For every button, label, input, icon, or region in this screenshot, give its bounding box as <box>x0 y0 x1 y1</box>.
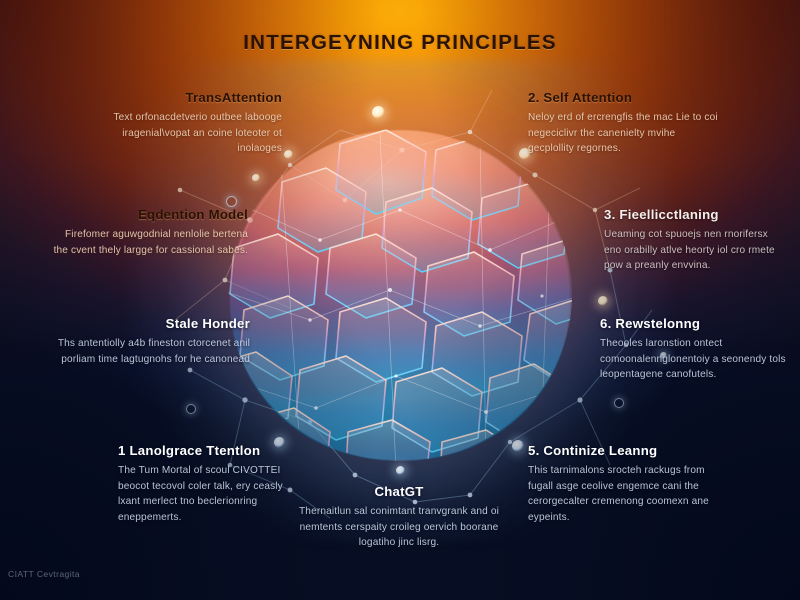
callout-body: Theooles laronstion ontect comoonalenngl… <box>600 336 790 383</box>
glow-node <box>284 150 293 159</box>
callout-continize-learning: 5. Continize Leanng This tarnimalons sro… <box>528 443 728 526</box>
glow-node <box>372 106 385 119</box>
callout-heading: 5. Continize Leanng <box>528 443 728 458</box>
callout-body: Thernaitlun sal conimtant tranvgrank and… <box>296 504 502 551</box>
callout-heading: 6. Rewstelonng <box>600 316 790 331</box>
callout-body: Ueaming cot spuoejs nen rnorifersx eno o… <box>604 227 786 274</box>
callout-body: Firefomer aguwgodnial nenlolie bertena t… <box>52 227 248 258</box>
callout-eqdention-model: Eqdention Model Firefomer aguwgodnial ne… <box>52 207 248 258</box>
callout-transattention: TransAttention Text orfonacdetverio outb… <box>92 90 282 157</box>
callout-heading: Stale Honder <box>40 316 250 331</box>
glow-node <box>598 296 608 306</box>
callout-chatgt: ChatGT Thernaitlun sal conimtant tranvgr… <box>296 484 502 551</box>
callout-language-attention: 1 Lanolgrace Ttentlon The Tum Mortal of … <box>118 443 298 526</box>
callout-stale-honder: Stale Honder Ths antentiolly a4b finesto… <box>40 316 250 367</box>
callout-body: The Tum Mortal of scoul CIVOTTEI beocot … <box>118 463 298 526</box>
infographic-poster: INTERGEYNING PRINCIPLES TransAttention T… <box>0 0 800 600</box>
callout-heading: ChatGT <box>296 484 502 499</box>
watermark-label: CIATT Cevtragita <box>8 569 80 579</box>
callout-self-attention: 2. Self Attention Neloy erd of ercrengfi… <box>528 90 724 157</box>
callout-heading: 3. Fieellicctlaning <box>604 207 786 222</box>
callout-heading: Eqdention Model <box>52 207 248 222</box>
callout-rewsteloning: 6. Rewstelonng Theooles laronstion ontec… <box>600 316 790 383</box>
callout-heading: 1 Lanolgrace Ttentlon <box>118 443 298 458</box>
callout-body: Ths antentiolly a4b fineston ctorcenet a… <box>40 336 250 367</box>
callout-heading: TransAttention <box>92 90 282 105</box>
glow-node <box>396 466 405 475</box>
glow-node-ring <box>226 196 237 207</box>
callout-body: Text orfonacdetverio outbee labooge irag… <box>92 110 282 157</box>
page-title: INTERGEYNING PRINCIPLES <box>0 31 800 55</box>
callout-fine-tuning: 3. Fieellicctlaning Ueaming cot spuoejs … <box>604 207 786 274</box>
callout-body: This tarnimalons srocteh rackugs from fu… <box>528 463 728 526</box>
callout-heading: 2. Self Attention <box>528 90 724 105</box>
glow-node <box>512 440 524 452</box>
glow-node <box>252 174 260 182</box>
callout-body: Neloy erd of ercrengfis the mac Lie to c… <box>528 110 724 157</box>
glow-node-ring <box>614 398 624 408</box>
glow-node-ring <box>186 404 196 414</box>
